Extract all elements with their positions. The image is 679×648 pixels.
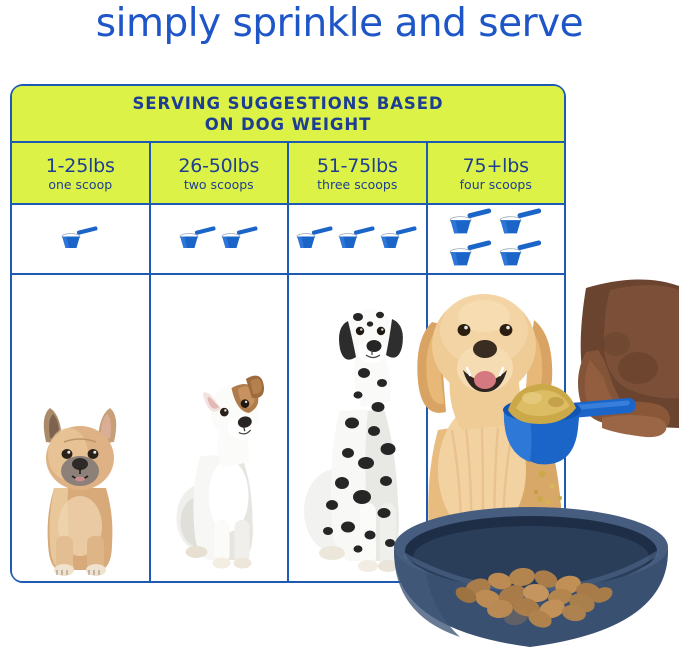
scoop-icon xyxy=(60,226,100,252)
scoop-icon xyxy=(295,226,335,252)
weight-value-4: 75+lbs xyxy=(463,155,529,177)
dog-food-bowl xyxy=(380,495,679,648)
weight-cell-1: 1-25lbs one scoop xyxy=(12,143,151,203)
page-title: simply sprinkle and serve xyxy=(0,0,679,50)
weight-cell-2: 26-50lbs two scoops xyxy=(151,143,290,203)
scoop-icon xyxy=(497,208,545,238)
weight-cell-4: 75+lbs four scoops xyxy=(428,143,565,203)
jack-russell-terrier-photo xyxy=(156,336,281,581)
scoop-cell-2 xyxy=(151,205,290,273)
scoop-row xyxy=(12,205,564,275)
scoop-icon xyxy=(447,208,495,238)
scoop-group-3 xyxy=(289,226,426,252)
scoop-icon xyxy=(178,226,218,252)
scoops-label-3: three scoops xyxy=(317,177,397,193)
weight-value-3: 51-75lbs xyxy=(317,155,398,177)
scoop-cell-4 xyxy=(428,205,565,273)
weight-cell-3: 51-75lbs three scoops xyxy=(289,143,428,203)
scoop-cell-1 xyxy=(12,205,151,273)
infographic-page: simply sprinkle and serve SERVING SUGGES… xyxy=(0,0,679,648)
scoops-label-2: two scoops xyxy=(184,177,254,193)
scoop-group-1 xyxy=(12,226,149,252)
weight-row: 1-25lbs one scoop 26-50lbs two scoops 51… xyxy=(12,143,564,205)
table-header: SERVING SUGGESTIONS BASED ON DOG WEIGHT xyxy=(12,86,564,143)
weight-value-2: 26-50lbs xyxy=(178,155,259,177)
scoop-icon xyxy=(220,226,260,252)
scoop-icon xyxy=(379,226,419,252)
scoops-label-4: four scoops xyxy=(460,177,532,193)
weight-value-1: 1-25lbs xyxy=(46,155,115,177)
table-header-line2: ON DOG WEIGHT xyxy=(133,114,444,135)
dog-cell-jack-russell-terrier xyxy=(151,275,290,581)
scoop-group-4 xyxy=(444,208,548,270)
scoop-group-2 xyxy=(151,226,288,252)
table-header-text: SERVING SUGGESTIONS BASED ON DOG WEIGHT xyxy=(133,93,444,135)
scoop-icon xyxy=(497,240,545,270)
scoop-cell-3 xyxy=(289,205,428,273)
table-header-line1: SERVING SUGGESTIONS BASED xyxy=(133,93,444,114)
french-bulldog-photo xyxy=(20,376,140,581)
hand-holding-scoop xyxy=(490,278,679,508)
dog-cell-french-bulldog xyxy=(12,275,151,581)
scoop-icon xyxy=(447,240,495,270)
scoops-label-1: one scoop xyxy=(48,177,112,193)
scoop-icon xyxy=(337,226,377,252)
